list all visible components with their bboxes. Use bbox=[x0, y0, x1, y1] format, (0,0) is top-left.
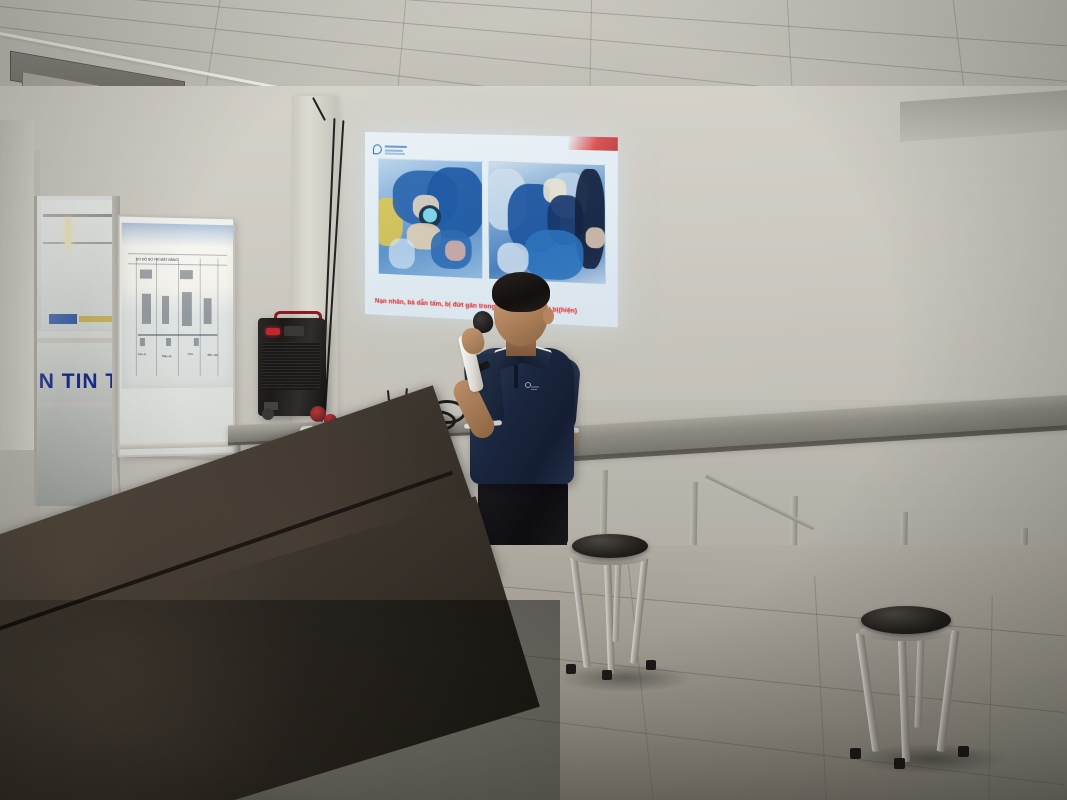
layout-plan-poster: Khu A Máy ép Kho Bốc xếp SƠ ĐỒ BỐ TRÍ MẶ… bbox=[122, 223, 233, 389]
stool-shadow bbox=[560, 664, 690, 692]
speaker-power-led bbox=[266, 328, 280, 335]
slide-corner-accent bbox=[569, 136, 618, 151]
hair bbox=[492, 272, 550, 312]
poster-header: SƠ ĐỒ BỐ TRÍ MẶT BẰNG bbox=[136, 257, 178, 262]
poster-label: Bốc xếp bbox=[208, 353, 219, 357]
slide-logo-icon bbox=[373, 144, 409, 156]
stool-front[interactable] bbox=[572, 534, 648, 558]
chest-logo-icon bbox=[524, 380, 541, 392]
speaker-grille bbox=[262, 342, 320, 390]
glass-reflection bbox=[37, 196, 118, 506]
stool-foot bbox=[646, 660, 656, 670]
mobile-whiteboard[interactable]: Khu A Máy ép Kho Bốc xếp SƠ ĐỒ BỐ TRÍ MẶ… bbox=[118, 215, 235, 458]
speaker-wheel-left bbox=[262, 408, 274, 420]
slide-photo-left bbox=[378, 158, 483, 279]
speaker-control-panel[interactable] bbox=[284, 326, 304, 336]
poster-label: Khu A bbox=[138, 352, 146, 356]
structural-column-left bbox=[0, 120, 34, 450]
hips-trousers bbox=[478, 478, 568, 544]
logo-mark-icon bbox=[373, 144, 382, 154]
stool-right[interactable] bbox=[861, 606, 951, 634]
glass-door-opening[interactable]: N TIN T bbox=[34, 196, 118, 506]
portable-pa-speaker[interactable] bbox=[258, 318, 326, 416]
stool-foot bbox=[850, 748, 861, 759]
stool-foot bbox=[566, 664, 576, 674]
whiteboard-pen-tray bbox=[120, 440, 235, 450]
poster-label: Kho bbox=[188, 352, 193, 356]
photo-scene: N TIN T Khu A Máy ép Kho bbox=[0, 0, 1067, 800]
ear bbox=[543, 308, 554, 324]
stool-foot bbox=[602, 670, 612, 680]
poster-label: Máy ép bbox=[162, 354, 172, 358]
stool-foot bbox=[894, 758, 905, 769]
slide-photo-right bbox=[488, 161, 606, 285]
stool-foot bbox=[958, 746, 969, 757]
